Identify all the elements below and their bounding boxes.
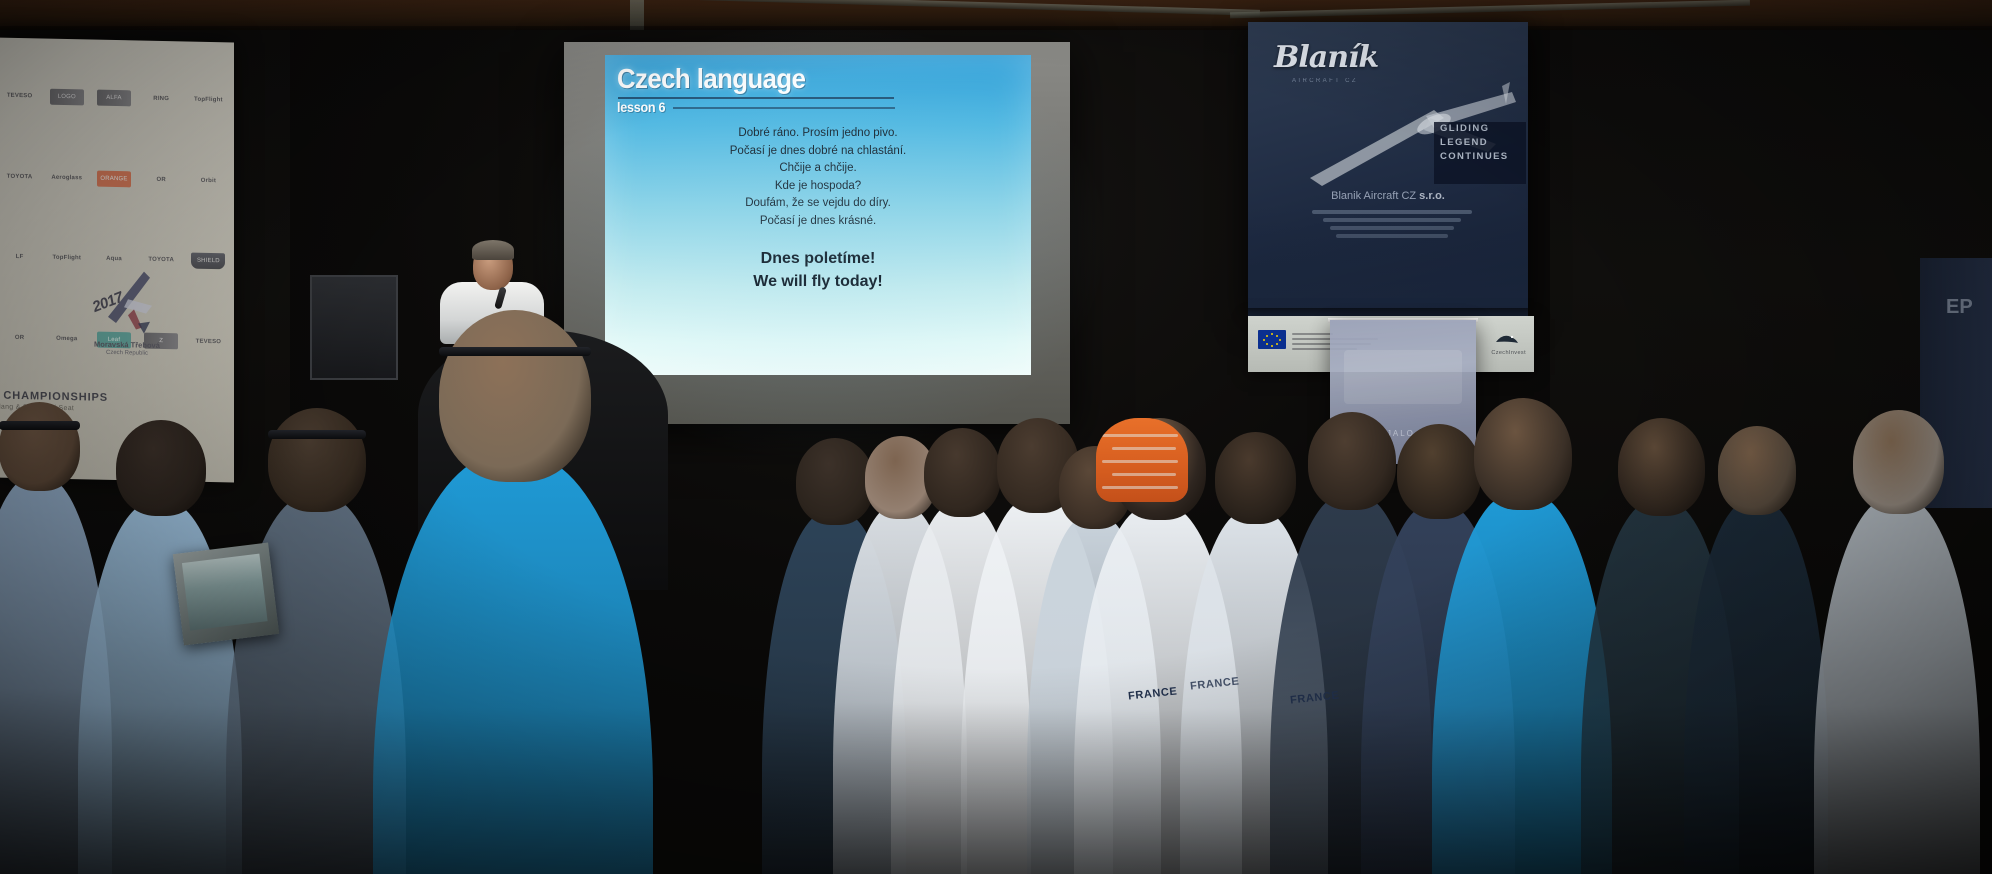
audience-head — [1215, 432, 1296, 524]
audience-shoulders — [1814, 497, 1980, 874]
blanik-company-name: Blanik Aircraft CZ s.r.o. — [1248, 190, 1528, 202]
blanik-tagline: GLIDING LEGEND CONTINUES — [1434, 122, 1526, 184]
audience-member-14 — [1452, 398, 1592, 874]
slide-lesson-rule — [673, 107, 895, 109]
sponsor-logo: OR — [144, 171, 178, 188]
sponsor-logo: OR — [3, 329, 37, 346]
slide-line: Kde je hospoda? — [605, 178, 1031, 196]
audience-shoulders — [1684, 500, 1827, 874]
sponsor-logo: SHIELD — [191, 253, 225, 270]
blanik-tagline-line: GLIDING — [1434, 122, 1526, 136]
eu-flag-icon — [1258, 330, 1286, 349]
laptop[interactable] — [173, 542, 279, 645]
sponsor-logo: RING — [144, 91, 178, 108]
audience-head — [116, 420, 206, 516]
mountain-silhouette — [1248, 206, 1528, 316]
sunglasses-on-head — [268, 430, 366, 439]
slide-lesson-label: lesson 6 — [617, 99, 665, 115]
audience-head — [1853, 410, 1944, 514]
slide-body-text: Dobré ráno. Prosím jedno pivo. Počasí je… — [605, 125, 1031, 230]
audience-member-2 — [96, 420, 224, 874]
audience-head — [1718, 426, 1796, 515]
slide-line: Doufám, že se vejdu do díry. — [605, 195, 1031, 213]
sponsor-logo: TopFlight — [191, 92, 225, 109]
sponsor-logo: TEVESO — [191, 333, 225, 350]
czechinvest-caption: CzechInvest — [1491, 350, 1526, 356]
audience-head — [0, 402, 80, 491]
blanik-tagline-line: CONTINUES — [1434, 150, 1526, 164]
blanik-company-suffix: s.r.o. — [1416, 190, 1445, 202]
sponsor-logo: ORANGE — [97, 170, 131, 187]
slide-line: Chčije a chčije. — [605, 160, 1031, 178]
audience-member-4 — [404, 310, 622, 874]
wall-monitor — [310, 275, 398, 380]
slide-punchline: Dnes poletíme! We will fly today! — [605, 247, 1031, 293]
slide-line: Počasí je dnes dobré na chlastání. — [605, 143, 1031, 161]
audience-head — [1474, 398, 1572, 510]
laptop-screen — [182, 554, 268, 631]
blanik-logo: Blaník — [1274, 40, 1378, 75]
audience-member-16 — [1700, 426, 1812, 874]
slide-line: Dobré ráno. Prosím jedno pivo. — [605, 125, 1031, 143]
right-edge-text: EP — [1946, 296, 1973, 319]
audience-head — [268, 408, 366, 512]
audience-head — [439, 310, 592, 482]
hanging-banner-graphic — [1344, 350, 1462, 404]
sponsor-logo: LOGO — [50, 89, 84, 106]
audience-shoulders — [373, 454, 652, 874]
sponsor-logo: ALFA — [97, 90, 131, 107]
projected-slide: Czech language lesson 6 Dobré ráno. Pros… — [605, 55, 1031, 375]
slide-punchline-en: We will fly today! — [605, 270, 1031, 293]
sunglasses-on-head — [0, 421, 80, 430]
audience-member-17 — [1832, 410, 1962, 874]
sponsor-logo: Orbit — [191, 172, 225, 189]
sponsor-logo: TEVESO — [3, 88, 37, 105]
blanik-banner: Blaník AIRCRAFT CZ GLIDING LEGEND CONTIN… — [1248, 22, 1528, 316]
czechinvest-bird-icon — [1494, 332, 1520, 346]
audience-member-3 — [246, 408, 386, 874]
blanik-company-text: Blanik Aircraft CZ — [1331, 190, 1416, 202]
presenter-hair — [472, 240, 514, 260]
sponsor-logo: TopFlight — [50, 250, 84, 267]
championship-city: Moravská Třebová — [94, 340, 160, 350]
sponsor-logo: TOYOTA — [3, 168, 37, 185]
presentation-room-scene: TEVESO LOGO ALFA RING TopFlight TOYOTA A… — [0, 0, 1992, 874]
slide-line: Počasí je dnes krásné. — [605, 213, 1031, 231]
sunglasses-on-head — [439, 347, 592, 356]
audience-head — [1618, 418, 1705, 516]
sponsor-logo: LF — [3, 249, 37, 266]
sponsor-logo: Aeroglass — [50, 169, 84, 186]
championship-country: Czech Republic — [106, 350, 148, 357]
blanik-tagline-line: LEGEND — [1434, 136, 1526, 150]
slide-punchline-cz: Dnes poletíme! — [605, 247, 1031, 270]
slide-title: Czech language — [617, 63, 805, 95]
sponsor-logo: Omega — [50, 330, 84, 347]
audience-member-bandana — [1096, 418, 1188, 502]
